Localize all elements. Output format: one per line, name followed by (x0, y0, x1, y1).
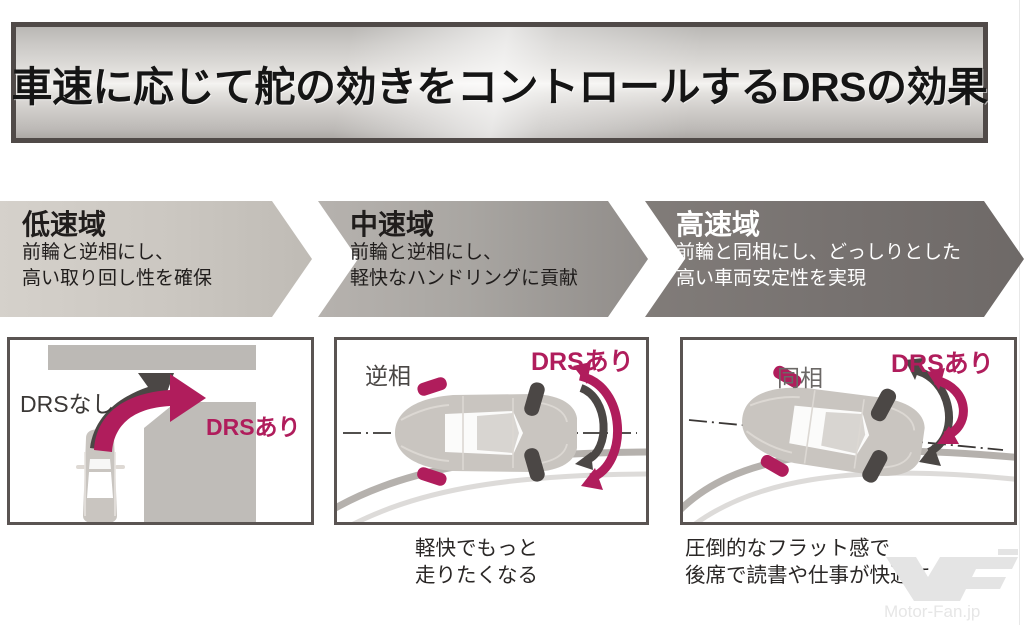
label-with-drs-2: DRSあり (531, 348, 634, 376)
diagram-panel-low-speed: DRSなし DRSあり (7, 337, 314, 525)
speed-band-chevron-high (645, 201, 1024, 317)
speed-band-chevron-low (0, 201, 312, 317)
speed-band-chevrons: 低速域 前輪と逆相にし、 高い取り回し性を確保 中速域 前輪と逆相にし、 軽快な… (0, 201, 1024, 317)
watermark-text: Motor-Fan.jp (884, 602, 980, 621)
car-top-down-mid-speed (395, 376, 577, 488)
diagram-panel-mid-speed: 逆相 DRSあり (334, 337, 649, 525)
page-title: 車速に応じて舵の効きをコントロールするDRSの効果 (11, 53, 987, 113)
panel-caption-mid-speed: 軽快でもっと 走りたくなる (415, 535, 538, 590)
label-with-drs-1: DRSあり (206, 414, 301, 440)
diagram-panel-high-speed: 同相 DRSあり (680, 337, 1017, 525)
label-phase-counter: 逆相 (365, 363, 411, 389)
title-banner-sheen: 車速に応じて舵の効きをコントロールするDRSの効果 (16, 27, 983, 138)
illustration-page: 車速に応じて舵の効きをコントロールするDRSの効果 低速域 前輪と逆相にし、 高… (0, 0, 1024, 625)
road-curve-inner (683, 473, 1014, 522)
speed-band-chevron-mid (318, 201, 648, 317)
label-with-drs-3: DRSあり (891, 350, 994, 378)
yaw-arrow-magenta (573, 362, 618, 490)
high-speed-scene: 同相 DRSあり (683, 340, 1014, 522)
yaw-arrow-dark (575, 388, 604, 470)
label-phase-same: 同相 (777, 365, 823, 391)
title-banner: 車速に応じて舵の効きをコントロールするDRSの効果 (11, 22, 988, 143)
panel-caption-high-speed: 圧倒的なフラット感で 後席で読書や仕事が快適に (685, 535, 931, 590)
mid-speed-scene: 逆相 DRSあり (337, 340, 646, 522)
label-without-drs: DRSなし (20, 391, 115, 417)
low-speed-scene: DRSなし DRSあり (10, 340, 311, 522)
obstacle-top-wall (48, 345, 256, 370)
